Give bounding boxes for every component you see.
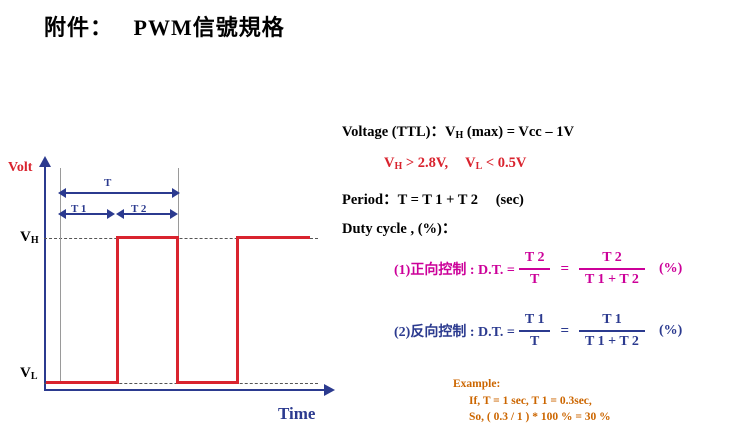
t1-arrow-line bbox=[62, 213, 112, 215]
period-arrow-left-head bbox=[58, 188, 66, 198]
wave-rise-1 bbox=[116, 236, 119, 384]
t2-arrow-right-head bbox=[170, 209, 178, 219]
spec-panel: Voltage (TTL)：VH (max) = Vcc – 1V VH > 2… bbox=[342, 120, 750, 244]
formula-1-lead: (1)正向控制 : D.T. = bbox=[394, 259, 515, 279]
fraction-bar bbox=[519, 268, 551, 270]
example-line-2: So, ( 0.3 / 1 ) * 100 % = 30 % bbox=[469, 409, 611, 426]
formula-2-lead: (2)反向控制 : D.T. = bbox=[394, 321, 515, 341]
period-spec-line: Period：T = T 1 + T 2 (sec) bbox=[342, 188, 750, 209]
fraction-bar bbox=[579, 268, 645, 270]
example-block: Example: If, T = 1 sec, T 1 = 0.3sec, So… bbox=[455, 376, 611, 426]
y-axis bbox=[44, 165, 46, 391]
t1-arrow-left-head bbox=[58, 209, 66, 219]
wave-fall-1 bbox=[176, 236, 179, 384]
x-axis-arrow bbox=[324, 384, 335, 396]
duty-cycle-label: Duty cycle , (%)： bbox=[342, 217, 750, 238]
t2-arrow-line bbox=[120, 213, 175, 215]
formula-2-fraction-1: T 1 T bbox=[519, 312, 551, 350]
title-prefix: 附件： bbox=[44, 15, 113, 40]
title-text: PWM信號規格 bbox=[134, 15, 285, 40]
formula-1-fraction-1: T 2 T bbox=[519, 250, 551, 288]
x-axis-label: Time bbox=[278, 404, 315, 424]
y-axis-arrow bbox=[39, 156, 51, 167]
t1-mark-label: T 1 bbox=[71, 203, 86, 215]
fraction-bar bbox=[519, 330, 551, 332]
period-arrow-right-head bbox=[172, 188, 180, 198]
formula-2-fraction-2: T 1 T 1 + T 2 bbox=[579, 312, 645, 350]
formula-1-fraction-2: T 2 T 1 + T 2 bbox=[579, 250, 645, 288]
fraction-bar bbox=[579, 330, 645, 332]
voltage-spec-line: Voltage (TTL)：VH (max) = Vcc – 1V bbox=[342, 120, 750, 141]
period-mark-label: T bbox=[104, 177, 111, 189]
reference-line-left bbox=[60, 168, 61, 384]
formula-2-percent: (%) bbox=[659, 323, 682, 339]
formula-1-percent: (%) bbox=[659, 261, 682, 277]
wave-rise-2 bbox=[236, 236, 239, 384]
t2-arrow-left-head bbox=[116, 209, 124, 219]
period-arrow-line bbox=[62, 192, 177, 194]
y-axis-label: Volt bbox=[8, 160, 32, 176]
t2-mark-label: T 2 bbox=[131, 203, 146, 215]
example-heading: Example: bbox=[453, 376, 611, 393]
formula-row-reverse: (2)反向控制 : D.T. = T 1 T = T 1 T 1 + T 2 (… bbox=[394, 308, 682, 350]
level-high-label: VH bbox=[20, 229, 39, 246]
t1-arrow-right-head bbox=[107, 209, 115, 219]
example-line-1: If, T = 1 sec, T 1 = 0.3sec, bbox=[469, 393, 611, 410]
page-title: 附件： PWM信號規格 bbox=[44, 10, 285, 42]
level-low-label: VL bbox=[20, 365, 38, 382]
x-axis bbox=[44, 389, 324, 391]
formula-2-equals: = bbox=[560, 323, 569, 340]
wave-segment-low-1 bbox=[46, 381, 118, 384]
wave-segment-high-2 bbox=[236, 236, 310, 239]
wave-segment-high-1 bbox=[116, 236, 178, 239]
formula-row-forward: (1)正向控制 : D.T. = T 2 T = T 2 T 1 + T 2 (… bbox=[394, 246, 682, 288]
wave-segment-low-2 bbox=[176, 381, 238, 384]
threshold-spec-line: VH > 2.8V, VL < 0.5V bbox=[384, 155, 750, 172]
formula-1-equals: = bbox=[560, 261, 569, 278]
